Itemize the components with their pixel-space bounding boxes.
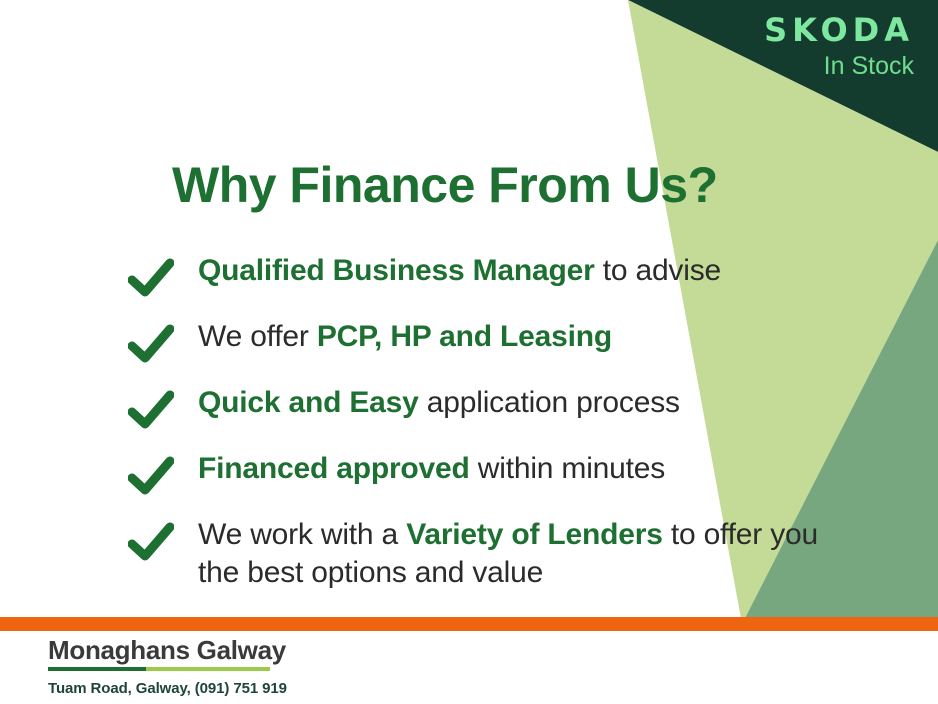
benefit-item-label: Qualified Business Manager to advise	[198, 252, 721, 290]
benefit-emphasis: PCP, HP and Leasing	[317, 320, 612, 353]
benefit-plain: application process	[419, 386, 680, 419]
benefit-plain: to advise	[595, 254, 721, 287]
check-icon	[128, 390, 174, 432]
dealer-footer: Monaghans Galway Tuam Road, Galway, (091…	[48, 636, 287, 697]
footer-divider	[0, 617, 938, 631]
benefit-plain: We offer	[198, 320, 317, 353]
benefits-list: Qualified Business Manager to adviseWe o…	[128, 252, 828, 611]
underline-dark-segment	[48, 667, 146, 671]
finance-promo-poster: SKODA In Stock Why Finance From Us? Qual…	[0, 0, 938, 704]
benefit-emphasis: Quick and Easy	[198, 386, 419, 419]
benefit-item: We offer PCP, HP and Leasing	[128, 318, 828, 366]
benefit-item-label: We work with a Variety of Lenders to off…	[198, 516, 828, 593]
benefit-item-label: Financed approved within minutes	[198, 450, 665, 488]
check-icon	[128, 324, 174, 366]
skoda-wordmark-icon: SKODA	[764, 14, 914, 46]
benefit-plain: We work with a	[198, 518, 406, 551]
brand-tagline: In Stock	[764, 52, 914, 81]
benefit-emphasis: Qualified Business Manager	[198, 254, 595, 287]
benefit-item-label: Quick and Easy application process	[198, 384, 680, 422]
page-title: Why Finance From Us?	[172, 156, 718, 214]
benefit-plain: within minutes	[470, 452, 665, 485]
benefit-item: Quick and Easy application process	[128, 384, 828, 432]
check-icon	[128, 456, 174, 498]
benefit-item: We work with a Variety of Lenders to off…	[128, 516, 828, 593]
dealer-name-underline	[48, 667, 270, 671]
brand-lockup: SKODA In Stock	[764, 14, 914, 81]
benefit-item: Financed approved within minutes	[128, 450, 828, 498]
dealer-name: Monaghans Galway	[48, 636, 286, 665]
check-icon	[128, 258, 174, 300]
underline-light-segment	[146, 667, 270, 671]
benefit-item-label: We offer PCP, HP and Leasing	[198, 318, 612, 356]
benefit-emphasis: Financed approved	[198, 452, 470, 485]
check-icon	[128, 522, 174, 564]
benefit-emphasis: Variety of Lenders	[406, 518, 663, 551]
dealer-address: Tuam Road, Galway, (091) 751 919	[48, 680, 287, 697]
benefit-item: Qualified Business Manager to advise	[128, 252, 828, 300]
